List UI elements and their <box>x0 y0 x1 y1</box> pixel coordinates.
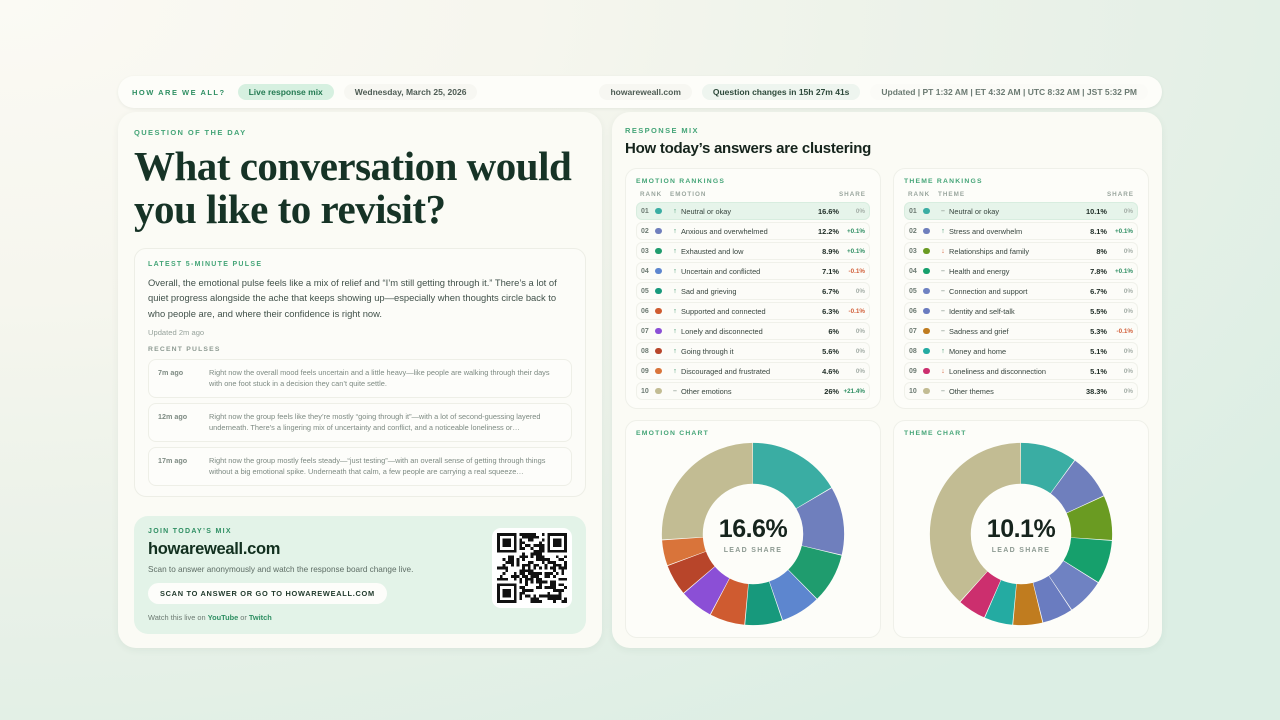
row-share: 6.7% <box>809 287 839 296</box>
row-rank: 05 <box>909 288 923 295</box>
row-label: Lonely and disconnected <box>681 327 809 336</box>
row-delta: +0.1% <box>839 228 865 235</box>
pulse-summary-text: Overall, the emotional pulse feels like … <box>148 275 572 321</box>
trend-flat-icon: – <box>937 308 949 315</box>
table-row[interactable]: 03↓Relationships and family8%0% <box>904 242 1138 260</box>
row-rank: 01 <box>909 208 923 215</box>
row-label: Uncertain and conflicted <box>681 267 809 276</box>
trend-flat-icon: – <box>669 388 681 395</box>
row-share: 5.5% <box>1077 307 1107 316</box>
row-rank: 02 <box>641 228 655 235</box>
trend-up-icon: ↑ <box>669 308 681 315</box>
row-label: Exhausted and low <box>681 247 809 256</box>
row-share: 8% <box>1077 247 1107 256</box>
join-card-content: JOIN TODAY’S MIX howareweall.com Scan to… <box>148 528 492 622</box>
row-label: Identity and self-talk <box>949 307 1077 316</box>
table-row[interactable]: 07–Sadness and grief5.3%-0.1% <box>904 322 1138 340</box>
category-color-dot <box>655 388 669 395</box>
row-share: 38.3% <box>1077 387 1107 396</box>
response-mix-eyebrow: RESPONSE MIX <box>625 126 1149 135</box>
table-row[interactable]: 02↑Stress and overwhelm8.1%+0.1% <box>904 222 1138 240</box>
row-rank: 03 <box>641 248 655 255</box>
row-share: 5.6% <box>809 347 839 356</box>
pulse-item-text: Right now the group feels like they’re m… <box>209 411 562 434</box>
rankings-row: EMOTION RANKINGS RANK EMOTION SHARE 01↑N… <box>625 168 1149 409</box>
emotion-chart-card: EMOTION CHART 16.6% LEAD SHARE <box>625 420 881 638</box>
trend-up-icon: ↑ <box>669 268 681 275</box>
row-rank: 09 <box>909 368 923 375</box>
row-share: 10.1% <box>1077 207 1107 216</box>
emotion-donut-chart[interactable]: 16.6% LEAD SHARE <box>660 441 846 627</box>
row-label: Loneliness and disconnection <box>949 367 1077 376</box>
question-eyebrow: QUESTION OF THE DAY <box>134 128 586 137</box>
row-delta: 0% <box>839 208 865 215</box>
theme-rankings-rows: 01–Neutral or okay10.1%0%02↑Stress and o… <box>904 202 1138 400</box>
pulse-item-text: Right now the overall mood feels uncerta… <box>209 367 562 390</box>
row-rank: 07 <box>641 328 655 335</box>
row-delta: 0% <box>1107 288 1133 295</box>
row-rank: 04 <box>909 268 923 275</box>
column-header-theme: THEME <box>938 191 1078 198</box>
row-rank: 10 <box>909 388 923 395</box>
list-item[interactable]: 12m ago Right now the group feels like t… <box>148 403 572 442</box>
row-share: 6.7% <box>1077 287 1107 296</box>
table-row[interactable]: 01↑Neutral or okay16.6%0% <box>636 202 870 220</box>
trend-up-icon: ↑ <box>669 368 681 375</box>
table-row[interactable]: 06↑Supported and connected6.3%-0.1% <box>636 302 870 320</box>
row-label: Neutral or okay <box>949 207 1077 216</box>
category-color-dot <box>923 268 937 275</box>
row-share: 5.1% <box>1077 347 1107 356</box>
theme-chart-eyebrow: THEME CHART <box>904 430 1138 437</box>
updated-timezones-pill: Updated | PT 1:32 AM | ET 4:32 AM | UTC … <box>870 84 1148 101</box>
category-color-dot <box>655 288 669 295</box>
category-color-dot <box>923 348 937 355</box>
trend-up-icon: ↑ <box>669 288 681 295</box>
response-mix-title: How today’s answers are clustering <box>625 140 1149 157</box>
category-color-dot <box>655 348 669 355</box>
table-row[interactable]: 05↑Sad and grieving6.7%0% <box>636 282 870 300</box>
category-color-dot <box>655 228 669 235</box>
theme-donut-chart[interactable]: 10.1% LEAD SHARE <box>928 441 1114 627</box>
row-share: 8.1% <box>1077 227 1107 236</box>
row-share: 7.8% <box>1077 267 1107 276</box>
trend-flat-icon: – <box>937 388 949 395</box>
table-row[interactable]: 09↓Loneliness and disconnection5.1%0% <box>904 362 1138 380</box>
row-share: 7.1% <box>809 267 839 276</box>
table-row[interactable]: 07↑Lonely and disconnected6%0% <box>636 322 870 340</box>
row-delta: 0% <box>839 368 865 375</box>
pulse-item-time: 17m ago <box>158 455 200 478</box>
row-delta: 0% <box>1107 368 1133 375</box>
recent-pulses-list: 7m ago Right now the overall mood feels … <box>148 359 572 486</box>
row-share: 16.6% <box>809 207 839 216</box>
emotion-donut-wrap: 16.6% LEAD SHARE <box>636 441 870 627</box>
column-header-emotion: EMOTION <box>670 191 810 198</box>
live-response-mix-badge[interactable]: Live response mix <box>238 84 334 101</box>
latest-pulse-card: LATEST 5-MINUTE PULSE Overall, the emoti… <box>134 248 586 497</box>
row-label: Money and home <box>949 347 1077 356</box>
row-label: Health and energy <box>949 267 1077 276</box>
row-share: 5.3% <box>1077 327 1107 336</box>
theme-rankings-header: RANK THEME SHARE <box>904 191 1138 202</box>
row-share: 12.2% <box>809 227 839 236</box>
row-delta: 0% <box>839 348 865 355</box>
row-rank: 02 <box>909 228 923 235</box>
row-delta: 0% <box>1107 348 1133 355</box>
join-domain-label: howareweall.com <box>148 540 492 559</box>
table-row[interactable]: 08↑Going through it5.6%0% <box>636 342 870 360</box>
trend-flat-icon: – <box>937 288 949 295</box>
trend-up-icon: ↑ <box>937 228 949 235</box>
watch-live-line: Watch this live on YouTube or Twitch <box>148 613 492 622</box>
trend-flat-icon: – <box>937 328 949 335</box>
row-delta: 0% <box>839 328 865 335</box>
category-color-dot <box>923 328 937 335</box>
emotion-rankings-header: RANK EMOTION SHARE <box>636 191 870 202</box>
category-color-dot <box>655 328 669 335</box>
pulse-item-text: Right now the group mostly feels steady—… <box>209 455 562 478</box>
row-label: Sad and grieving <box>681 287 809 296</box>
theme-chart-card: THEME CHART 10.1% LEAD SHARE <box>893 420 1149 638</box>
trend-up-icon: ↑ <box>669 208 681 215</box>
list-item[interactable]: 17m ago Right now the group mostly feels… <box>148 447 572 486</box>
category-color-dot <box>923 388 937 395</box>
table-row[interactable]: 05–Connection and support6.7%0% <box>904 282 1138 300</box>
row-share: 8.9% <box>809 247 839 256</box>
qr-code[interactable] <box>492 528 572 608</box>
join-subtitle: Scan to answer anonymously and watch the… <box>148 565 492 574</box>
top-status-bar-right: howareweall.com Question changes in 15h … <box>599 84 1148 101</box>
emotion-rankings-card: EMOTION RANKINGS RANK EMOTION SHARE 01↑N… <box>625 168 881 409</box>
category-color-dot <box>655 368 669 375</box>
question-panel: QUESTION OF THE DAY What conversation wo… <box>118 112 602 648</box>
row-label: Supported and connected <box>681 307 809 316</box>
watch-or: or <box>238 613 249 622</box>
response-mix-panel: RESPONSE MIX How today’s answers are clu… <box>612 112 1162 648</box>
category-color-dot <box>655 308 669 315</box>
table-row[interactable]: 09↑Discouraged and frustrated4.6%0% <box>636 362 870 380</box>
row-label: Discouraged and frustrated <box>681 367 809 376</box>
row-delta: +21.4% <box>839 388 865 395</box>
brand-label: HOW ARE WE ALL? <box>132 88 226 97</box>
table-row[interactable]: 03↑Exhausted and low8.9%+0.1% <box>636 242 870 260</box>
category-color-dot <box>655 248 669 255</box>
row-delta: -0.1% <box>839 268 865 275</box>
table-row[interactable]: 08↑Money and home5.1%0% <box>904 342 1138 360</box>
scan-to-answer-button[interactable]: SCAN TO ANSWER OR GO TO HOWAREWEALL.COM <box>148 583 387 604</box>
row-label: Going through it <box>681 347 809 356</box>
theme-rankings-eyebrow: THEME RANKINGS <box>904 178 1138 185</box>
table-row[interactable]: 01–Neutral or okay10.1%0% <box>904 202 1138 220</box>
row-rank: 05 <box>641 288 655 295</box>
row-delta: 0% <box>1107 388 1133 395</box>
row-rank: 09 <box>641 368 655 375</box>
category-color-dot <box>923 208 937 215</box>
category-color-dot <box>923 228 937 235</box>
trend-flat-icon: – <box>937 268 949 275</box>
app-root: HOW ARE WE ALL? Live response mix Wednes… <box>0 0 1280 720</box>
table-row[interactable]: 04–Health and energy7.8%+0.1% <box>904 262 1138 280</box>
row-label: Anxious and overwhelmed <box>681 227 809 236</box>
row-label: Other emotions <box>681 387 809 396</box>
category-color-dot <box>923 308 937 315</box>
row-delta: 0% <box>1107 208 1133 215</box>
category-color-dot <box>655 208 669 215</box>
row-rank: 08 <box>909 348 923 355</box>
row-delta: 0% <box>839 288 865 295</box>
pulse-updated-time: Updated 2m ago <box>148 328 572 337</box>
trend-up-icon: ↑ <box>669 248 681 255</box>
category-color-dot <box>923 248 937 255</box>
category-color-dot <box>655 268 669 275</box>
site-domain-pill[interactable]: howareweall.com <box>599 84 691 101</box>
row-label: Neutral or okay <box>681 207 809 216</box>
row-share: 6.3% <box>809 307 839 316</box>
recent-pulses-label: RECENT PULSES <box>148 346 572 353</box>
join-mix-card: JOIN TODAY’S MIX howareweall.com Scan to… <box>134 516 586 634</box>
theme-donut-wrap: 10.1% LEAD SHARE <box>904 441 1138 627</box>
column-header-share: SHARE <box>1078 191 1134 198</box>
row-label: Other themes <box>949 387 1077 396</box>
trend-up-icon: ↑ <box>669 328 681 335</box>
watch-prefix: Watch this live on <box>148 613 208 622</box>
row-rank: 06 <box>641 308 655 315</box>
charts-row: EMOTION CHART 16.6% LEAD SHARE THEME CHA… <box>625 420 1149 638</box>
page-title: What conversation would you like to revi… <box>134 145 586 230</box>
row-rank: 07 <box>909 328 923 335</box>
question-countdown-pill: Question changes in 15h 27m 41s <box>702 84 861 101</box>
column-header-share: SHARE <box>810 191 866 198</box>
row-label: Relationships and family <box>949 247 1077 256</box>
top-status-bar: HOW ARE WE ALL? Live response mix Wednes… <box>118 76 1162 108</box>
row-rank: 10 <box>641 388 655 395</box>
category-color-dot <box>923 368 937 375</box>
row-delta: +0.1% <box>1107 268 1133 275</box>
row-delta: 0% <box>1107 248 1133 255</box>
theme-rankings-card: THEME RANKINGS RANK THEME SHARE 01–Neutr… <box>893 168 1149 409</box>
current-date: Wednesday, March 25, 2026 <box>344 84 478 101</box>
table-row[interactable]: 06–Identity and self-talk5.5%0% <box>904 302 1138 320</box>
row-delta: +0.1% <box>839 248 865 255</box>
table-row[interactable]: 10–Other emotions26%+21.4% <box>636 382 870 400</box>
row-share: 26% <box>809 387 839 396</box>
row-label: Stress and overwhelm <box>949 227 1077 236</box>
trend-flat-icon: – <box>937 208 949 215</box>
row-rank: 01 <box>641 208 655 215</box>
qr-modules <box>497 533 567 603</box>
emotion-rankings-eyebrow: EMOTION RANKINGS <box>636 178 870 185</box>
list-item[interactable]: 7m ago Right now the overall mood feels … <box>148 359 572 398</box>
row-delta: -0.1% <box>1107 328 1133 335</box>
table-row[interactable]: 04↑Uncertain and conflicted7.1%-0.1% <box>636 262 870 280</box>
youtube-link[interactable]: YouTube <box>208 613 239 622</box>
row-share: 6% <box>809 327 839 336</box>
row-delta: -0.1% <box>839 308 865 315</box>
trend-down-icon: ↓ <box>937 368 949 375</box>
table-row[interactable]: 02↑Anxious and overwhelmed12.2%+0.1% <box>636 222 870 240</box>
theme-donut-svg <box>928 441 1114 627</box>
row-rank: 08 <box>641 348 655 355</box>
column-header-rank: RANK <box>908 191 938 198</box>
trend-up-icon: ↑ <box>669 348 681 355</box>
row-share: 4.6% <box>809 367 839 376</box>
pulse-item-time: 7m ago <box>158 367 200 390</box>
row-rank: 04 <box>641 268 655 275</box>
pulse-item-time: 12m ago <box>158 411 200 434</box>
emotion-rankings-rows: 01↑Neutral or okay16.6%0%02↑Anxious and … <box>636 202 870 400</box>
category-color-dot <box>923 288 937 295</box>
table-row[interactable]: 10–Other themes38.3%0% <box>904 382 1138 400</box>
row-rank: 06 <box>909 308 923 315</box>
row-delta: 0% <box>1107 308 1133 315</box>
emotion-chart-eyebrow: EMOTION CHART <box>636 430 870 437</box>
pulse-eyebrow: LATEST 5-MINUTE PULSE <box>148 261 572 268</box>
trend-up-icon: ↑ <box>669 228 681 235</box>
row-rank: 03 <box>909 248 923 255</box>
emotion-donut-svg <box>660 441 846 627</box>
row-delta: +0.1% <box>1107 228 1133 235</box>
trend-down-icon: ↓ <box>937 248 949 255</box>
column-header-rank: RANK <box>640 191 670 198</box>
twitch-link[interactable]: Twitch <box>249 613 272 622</box>
row-label: Sadness and grief <box>949 327 1077 336</box>
trend-up-icon: ↑ <box>937 348 949 355</box>
row-label: Connection and support <box>949 287 1077 296</box>
join-eyebrow: JOIN TODAY’S MIX <box>148 528 492 535</box>
row-share: 5.1% <box>1077 367 1107 376</box>
